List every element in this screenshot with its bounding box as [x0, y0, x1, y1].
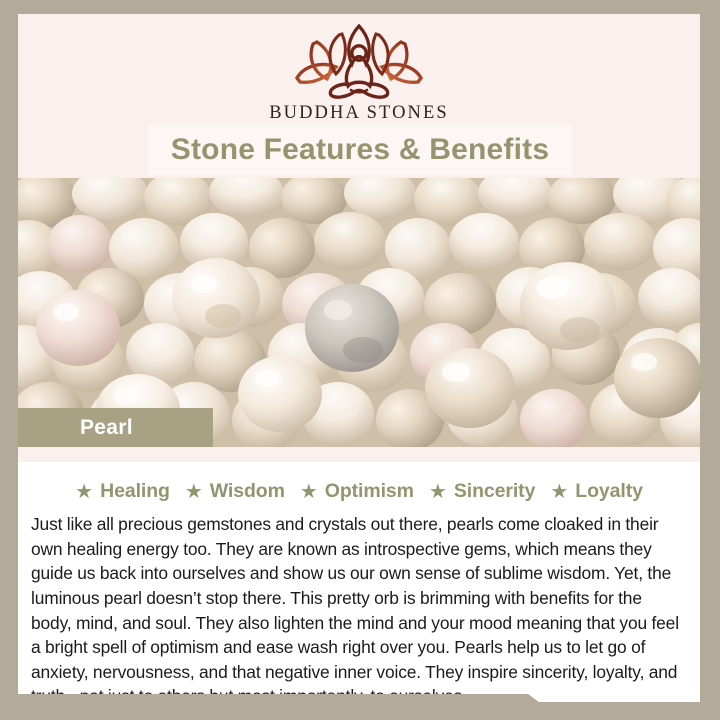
- benefit-label-optimism: Optimism: [325, 480, 414, 503]
- benefit-item: ★ Healing: [75, 480, 170, 503]
- description-paragraph: Just like all precious gemstones and cry…: [31, 512, 686, 702]
- benefit-label-healing: Healing: [100, 480, 170, 503]
- hero-image: [18, 178, 700, 447]
- page-inner-area: BUDDHA STONES Stone Features & Benefits: [18, 14, 700, 702]
- star-icon: ★: [429, 482, 447, 502]
- content-card: ★ Healing ★ Wisdom ★ Optimism ★ Sincerit…: [18, 462, 700, 702]
- star-icon: ★: [550, 482, 568, 502]
- bottom-accent-bar: [0, 694, 563, 720]
- brand-name: BUDDHA STONES: [18, 103, 700, 124]
- benefit-item: ★ Sincerity: [429, 480, 535, 503]
- benefit-label-loyalty: Loyalty: [575, 480, 643, 503]
- stone-name: Pearl: [80, 416, 133, 440]
- benefit-item: ★ Optimism: [300, 480, 414, 503]
- star-icon: ★: [75, 482, 93, 502]
- title-banner: Stone Features & Benefits: [148, 125, 572, 175]
- section-divider: [18, 447, 700, 462]
- infographic-page: BUDDHA STONES Stone Features & Benefits: [0, 0, 720, 720]
- star-icon: ★: [300, 482, 318, 502]
- lotus-meditation-icon: [284, 22, 434, 100]
- page-title: Stone Features & Benefits: [171, 133, 549, 167]
- benefit-item: ★ Wisdom: [185, 480, 285, 503]
- stone-name-banner: Pearl: [18, 408, 213, 447]
- benefit-item: ★ Loyalty: [550, 480, 643, 503]
- benefits-row: ★ Healing ★ Wisdom ★ Optimism ★ Sincerit…: [18, 462, 700, 503]
- benefit-label-wisdom: Wisdom: [210, 480, 285, 503]
- benefit-label-sincerity: Sincerity: [454, 480, 535, 503]
- brand-logo: BUDDHA STONES: [18, 22, 700, 124]
- pearls-photo: [18, 178, 700, 447]
- star-icon: ★: [185, 482, 203, 502]
